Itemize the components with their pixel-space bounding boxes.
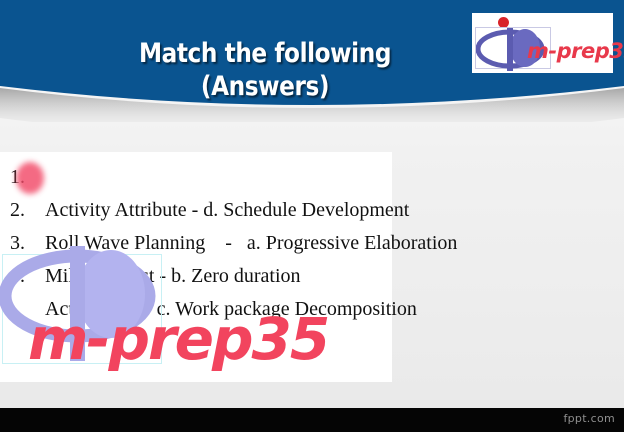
cursor-highlight-blob	[16, 162, 44, 194]
page-title-line2: (Answers)	[97, 70, 432, 103]
slide-header-band: Match the following (Answers) m-prep35	[0, 0, 624, 122]
list-item: 2. Roll Wave Planning - a. Progressive E…	[0, 161, 624, 194]
answers-list: 1. Activity Attribute - d. Schedule Deve…	[0, 128, 624, 260]
footer-bar: fppt.com	[0, 408, 624, 432]
brand-logo: m-prep35	[472, 13, 613, 73]
watermark-wordmark: m-prep35	[28, 310, 328, 368]
presentation-slide: Match the following (Answers) m-prep35 1…	[0, 0, 624, 432]
footer-credit-text: fppt.com	[563, 412, 615, 425]
page-title: Match the following (Answers)	[97, 4, 432, 122]
watermark-logo: m-prep35	[0, 252, 392, 382]
list-item: 3. Milestone list - b. Zero duration	[0, 194, 624, 227]
page-title-line1: Match the following	[139, 38, 391, 69]
logo-wordmark: m-prep35	[527, 41, 624, 62]
list-item: 1. Activity Attribute - d. Schedule Deve…	[0, 128, 624, 161]
